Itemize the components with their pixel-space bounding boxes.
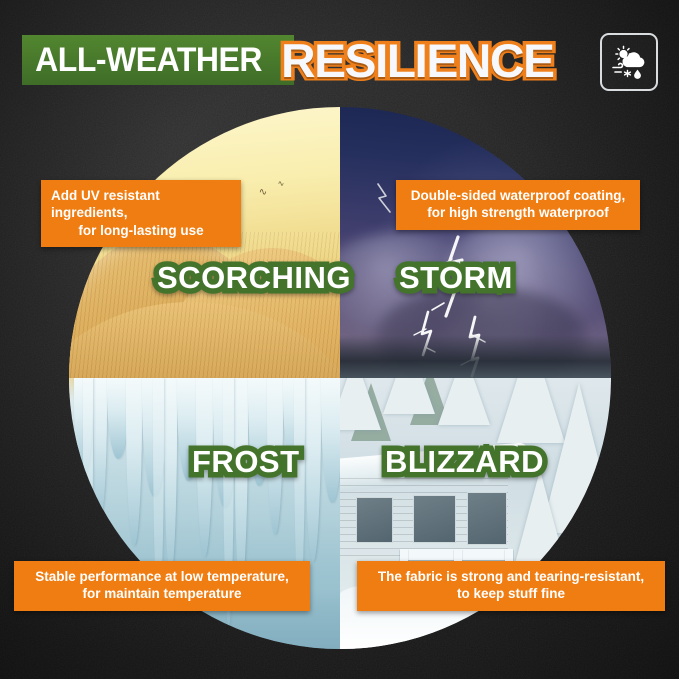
cabin-window <box>413 495 456 543</box>
header: ALL-WEATHER RESILIENCE <box>22 31 658 89</box>
caption-storm-line2: for high strength waterproof <box>406 204 630 221</box>
snow-pine-tree <box>340 378 381 430</box>
cabin-window <box>356 497 393 542</box>
badge-scorching: SCORCHING <box>157 262 351 293</box>
caption-scorching: Add UV resistant ingredients, for long-l… <box>41 180 241 247</box>
weather-mixed-icon-glyph <box>609 42 649 82</box>
caption-frost: Stable performance at low temperature, f… <box>14 561 310 611</box>
sand-ripples <box>69 232 340 378</box>
quadrant-storm-image <box>340 107 611 378</box>
snow-pine-tree <box>438 378 490 425</box>
weather-mixed-icon <box>600 33 658 91</box>
cabin-window <box>467 492 507 545</box>
caption-blizzard-line2: to keep stuff fine <box>367 585 655 602</box>
caption-frost-line2: for maintain temperature <box>24 585 300 602</box>
badge-blizzard: BLIZZARD <box>385 446 544 477</box>
caption-storm: Double-sided waterproof coating, for hig… <box>396 180 640 230</box>
caption-frost-line1: Stable performance at low temperature, <box>35 569 289 584</box>
caption-blizzard: The fabric is strong and tearing-resista… <box>357 561 665 611</box>
caption-blizzard-line1: The fabric is strong and tearing-resista… <box>378 569 644 584</box>
poster-root: ALL-WEATHER RESILIENCE <box>0 0 679 679</box>
title-part-one: ALL-WEATHER <box>22 43 262 77</box>
snow-pine-tree <box>383 378 435 414</box>
caption-storm-line1: Double-sided waterproof coating, <box>411 188 626 203</box>
storm-horizon <box>340 335 611 378</box>
bird-icon: ∿ <box>278 180 285 188</box>
page-title: ALL-WEATHER RESILIENCE <box>22 31 548 89</box>
title-part-two: RESILIENCE <box>281 37 553 84</box>
bird-icon: ∿ <box>259 188 267 198</box>
badge-frost: FROST <box>192 446 300 477</box>
caption-scorching-line1: Add UV resistant ingredients, <box>51 188 160 220</box>
badge-storm: STORM <box>399 262 513 293</box>
caption-scorching-line2: for long-lasting use <box>51 222 231 239</box>
